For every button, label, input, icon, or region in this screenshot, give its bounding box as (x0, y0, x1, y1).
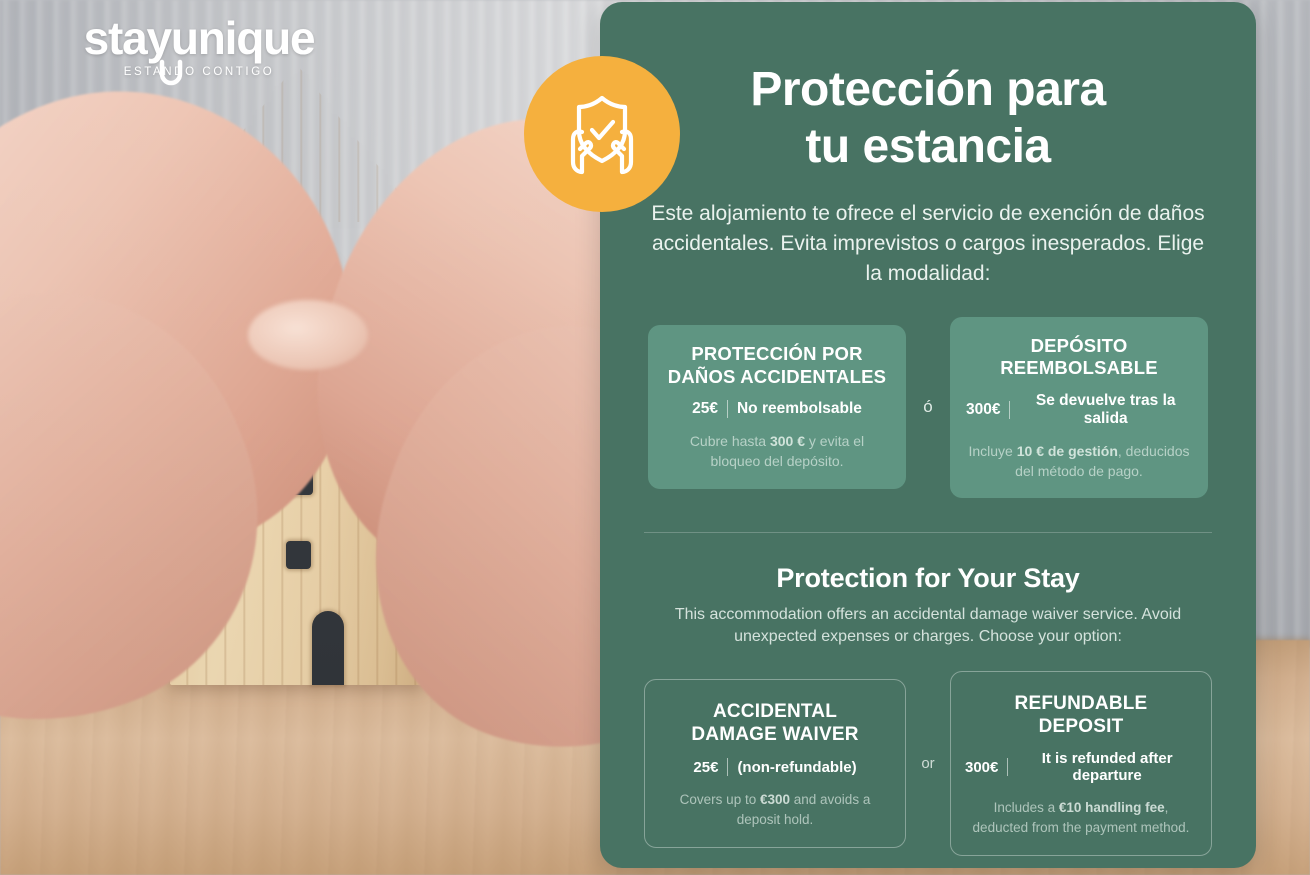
spanish-or-separator: ó (906, 397, 950, 417)
promo-banner: stayunique ESTANDO CONTIGO Protección pa… (0, 0, 1310, 875)
option-price-row: 25€ (non-refundable) (659, 758, 891, 776)
option-price: 300€ (966, 401, 1000, 419)
option-title-line-1: DEPÓSITO (1031, 335, 1128, 356)
option-price: 25€ (692, 400, 718, 418)
option-title: DEPÓSITO REEMBOLSABLE (966, 335, 1192, 380)
option-title: REFUNDABLE DEPOSIT (965, 692, 1197, 738)
english-lead-text: This accommodation offers an accidental … (668, 604, 1188, 649)
brand-logo: stayunique ESTANDO CONTIGO (74, 14, 324, 78)
option-terms: Se devuelve tras la salida (1019, 392, 1192, 428)
brand-wordmark: stayunique (74, 14, 324, 62)
option-note: Includes a €10 handling fee, deducted fr… (965, 798, 1197, 836)
brand-word-unique: unique (171, 12, 315, 64)
option-note-bold: 300 € (770, 433, 805, 449)
option-note-bold: €10 handling fee (1059, 800, 1165, 815)
protection-panel: Protección para tu estancia Este alojami… (600, 2, 1256, 868)
option-price-row: 300€ It is refunded after departure (965, 750, 1197, 784)
spanish-lead-text: Este alojamiento te ofrece el servicio d… (648, 199, 1208, 288)
option-title-line-1: ACCIDENTAL (713, 701, 837, 722)
spanish-options-row: PROTECCIÓN POR DAÑOS ACCIDENTALES 25€ No… (644, 317, 1212, 498)
price-divider (1007, 758, 1008, 776)
price-divider (1009, 401, 1010, 419)
option-note: Incluye 10 € de gestión, deducidos del m… (966, 442, 1192, 482)
option-note: Covers up to €300 and avoids a deposit h… (659, 790, 891, 828)
option-title: PROTECCIÓN POR DAÑOS ACCIDENTALES (664, 343, 890, 388)
option-price-row: 25€ No reembolsable (664, 400, 890, 418)
option-card-refundable-deposit-en[interactable]: REFUNDABLE DEPOSIT 300€ It is refunded a… (950, 671, 1212, 856)
title-line-2: tu estancia (644, 119, 1212, 176)
option-title: ACCIDENTAL DAMAGE WAIVER (659, 700, 891, 746)
section-divider (644, 532, 1212, 533)
option-terms: (non-refundable) (737, 759, 856, 776)
option-note-pre: Includes a (994, 800, 1059, 815)
title-line-1: Protección para (750, 63, 1105, 116)
option-title-line-1: REFUNDABLE (1015, 693, 1148, 714)
option-note-bold: 10 € de gestión (1017, 443, 1118, 459)
option-terms: It is refunded after departure (1017, 750, 1197, 784)
option-note-pre: Covers up to (680, 792, 760, 807)
brand-tagline: ESTANDO CONTIGO (74, 66, 324, 78)
option-card-accidental-damage-en[interactable]: ACCIDENTAL DAMAGE WAIVER 25€ (non-refund… (644, 679, 906, 848)
option-note-bold: €300 (760, 792, 790, 807)
option-price: 300€ (965, 759, 998, 776)
option-card-accidental-damage-es[interactable]: PROTECCIÓN POR DAÑOS ACCIDENTALES 25€ No… (648, 325, 906, 489)
option-price-row: 300€ Se devuelve tras la salida (966, 392, 1192, 428)
option-title-line-2: DAMAGE WAIVER (691, 724, 858, 745)
option-price: 25€ (693, 759, 718, 776)
price-divider (727, 758, 728, 776)
option-title-line-2: DAÑOS ACCIDENTALES (668, 366, 886, 387)
option-title-line-2: REEMBOLSABLE (1000, 357, 1158, 378)
option-title-line-2: DEPOSIT (1039, 716, 1124, 737)
english-options-row: ACCIDENTAL DAMAGE WAIVER 25€ (non-refund… (644, 671, 1212, 856)
option-title-line-1: PROTECCIÓN POR (691, 343, 862, 364)
option-note-pre: Cubre hasta (690, 433, 770, 449)
shield-check-in-hands-icon (524, 56, 680, 212)
option-terms: No reembolsable (737, 400, 862, 418)
option-card-refundable-deposit-es[interactable]: DEPÓSITO REEMBOLSABLE 300€ Se devuelve t… (950, 317, 1208, 498)
price-divider (727, 400, 728, 418)
page-title: Protección para tu estancia (644, 62, 1212, 175)
brand-word-stay: stay (84, 12, 171, 64)
english-section-title: Protection for Your Stay (644, 563, 1212, 594)
option-note-pre: Incluye (968, 443, 1016, 459)
option-note: Cubre hasta 300 € y evita el bloqueo del… (664, 432, 890, 472)
english-or-separator: or (906, 755, 950, 772)
